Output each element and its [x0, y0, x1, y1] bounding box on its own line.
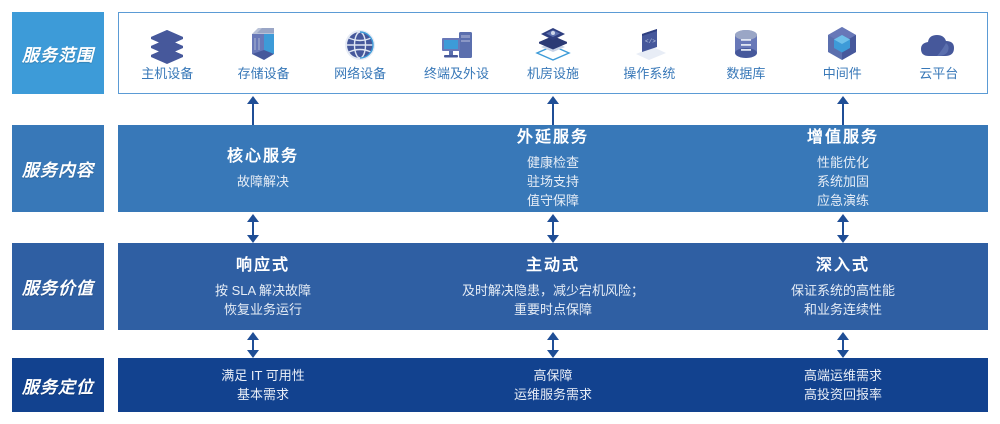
content-column-extended[interactable]: 外延服务 健康检查 驻场支持 值守保障 — [408, 125, 698, 212]
scope-item-label: 中间件 — [823, 66, 862, 82]
positioning-column-assurance[interactable]: 高保障 运维服务需求 — [408, 358, 698, 412]
column-lines: 高保障 运维服务需求 — [514, 366, 592, 404]
content-column-value-added[interactable]: 增值服务 性能优化 系统加固 应急演练 — [698, 125, 988, 212]
connector-arrow-double-4 — [246, 332, 260, 358]
row-label-service-content: 服务内容 — [12, 125, 104, 212]
connector-arrow-double-5 — [546, 332, 560, 358]
column-line: 满足 IT 可用性 — [221, 366, 305, 385]
column-lines: 保证系统的高性能 和业务连续性 — [791, 281, 895, 319]
service-scope-panel: 主机设备 存储设备 — [118, 12, 988, 94]
column-lines: 及时解决隐患，减少宕机风险； 重要时点保障 — [462, 281, 644, 319]
column-lines: 高端运维需求 高投资回报率 — [804, 366, 882, 404]
column-title: 深入式 — [816, 255, 870, 277]
column-line: 健康检查 — [527, 153, 579, 172]
column-line: 运维服务需求 — [514, 385, 592, 404]
column-line: 故障解决 — [237, 172, 289, 191]
column-lines: 健康检查 驻场支持 值守保障 — [527, 153, 579, 210]
column-line: 重要时点保障 — [462, 300, 644, 319]
value-column-proactive[interactable]: 主动式 及时解决隐患，减少宕机风险； 重要时点保障 — [408, 243, 698, 330]
arrow-stem — [842, 221, 844, 236]
column-line: 值守保障 — [527, 191, 579, 210]
column-title: 核心服务 — [227, 146, 299, 168]
scope-item-datacenter-facility[interactable]: 机房设施 — [505, 24, 601, 82]
scope-item-label: 操作系统 — [623, 66, 675, 82]
scope-item-label: 终端及外设 — [424, 66, 489, 82]
column-line: 性能优化 — [817, 153, 869, 172]
row-label-service-value: 服务价值 — [12, 243, 104, 330]
column-title: 外延服务 — [517, 127, 589, 149]
column-line: 基本需求 — [221, 385, 305, 404]
column-line: 保证系统的高性能 — [791, 281, 895, 300]
arrow-head-down — [247, 235, 259, 243]
positioning-column-basic[interactable]: 满足 IT 可用性 基本需求 — [118, 358, 408, 412]
column-line: 驻场支持 — [527, 172, 579, 191]
connector-arrow-double-2 — [546, 214, 560, 243]
column-title: 主动式 — [526, 255, 580, 277]
scope-item-label: 网络设备 — [334, 66, 386, 82]
row-label-text: 服务范围 — [22, 41, 94, 66]
value-column-reactive[interactable]: 响应式 按 SLA 解决故障 恢复业务运行 — [118, 243, 408, 330]
arrow-stem — [552, 221, 554, 236]
column-title: 增值服务 — [807, 127, 879, 149]
column-line: 应急演练 — [817, 191, 869, 210]
row-label-text: 服务价值 — [22, 274, 94, 299]
arrow-head-down — [547, 350, 559, 358]
scope-item-cloud-platform[interactable]: 云平台 — [891, 24, 987, 82]
column-line: 高保障 — [514, 366, 592, 385]
row-label-service-scope: 服务范围 — [12, 12, 104, 94]
scope-item-label: 机房设施 — [527, 66, 579, 82]
arrow-stem — [552, 103, 554, 125]
cube-middleware-icon — [823, 24, 861, 64]
arrow-stem — [252, 103, 254, 125]
connector-arrow-up-2 — [546, 96, 560, 125]
service-positioning-panel: 满足 IT 可用性 基本需求 高保障 运维服务需求 高端运维需求 高投资回报率 — [118, 358, 988, 412]
column-lines: 性能优化 系统加固 应急演练 — [817, 153, 869, 210]
column-line: 按 SLA 解决故障 — [215, 281, 311, 300]
connector-arrow-double-3 — [836, 214, 850, 243]
scope-item-label: 存储设备 — [238, 66, 290, 82]
column-title: 响应式 — [236, 255, 290, 277]
scope-item-middleware[interactable]: 中间件 — [794, 24, 890, 82]
column-line: 及时解决隐患，减少宕机风险； — [462, 281, 644, 300]
arrow-stem — [252, 221, 254, 236]
storage-array-icon — [244, 24, 284, 64]
connector-arrow-double-1 — [246, 214, 260, 243]
column-line: 高投资回报率 — [804, 385, 882, 404]
scope-item-label: 主机设备 — [141, 66, 193, 82]
svg-text:</>: </> — [645, 38, 656, 45]
arrow-head-down — [547, 235, 559, 243]
column-line: 和业务连续性 — [791, 300, 895, 319]
service-value-panel: 响应式 按 SLA 解决故障 恢复业务运行 主动式 及时解决隐患，减少宕机风险；… — [118, 243, 988, 330]
scope-item-operating-system[interactable]: </> 操作系统 — [601, 24, 697, 82]
desktop-pc-icon — [437, 24, 477, 64]
column-line: 系统加固 — [817, 172, 869, 191]
scope-item-network-equipment[interactable]: 网络设备 — [312, 24, 408, 82]
arrow-head-down — [837, 235, 849, 243]
scope-item-host-equipment[interactable]: 主机设备 — [119, 24, 215, 82]
row-label-text: 服务内容 — [22, 156, 94, 181]
arrow-stem — [842, 103, 844, 125]
globe-network-icon — [341, 24, 379, 64]
connector-arrow-up-1 — [246, 96, 260, 125]
arrow-head-down — [837, 350, 849, 358]
column-line: 恢复业务运行 — [215, 300, 311, 319]
scope-item-database[interactable]: 数据库 — [698, 24, 794, 82]
datacenter-icon — [531, 24, 575, 64]
column-lines: 满足 IT 可用性 基本需求 — [221, 366, 305, 404]
content-column-core[interactable]: 核心服务 故障解决 — [118, 125, 408, 212]
column-line: 高端运维需求 — [804, 366, 882, 385]
row-label-service-positioning: 服务定位 — [12, 358, 104, 412]
database-icon — [728, 24, 764, 64]
column-lines: 按 SLA 解决故障 恢复业务运行 — [215, 281, 311, 319]
service-framework-diagram: 服务范围 主机设备 — [0, 0, 1000, 424]
laptop-code-icon: </> — [628, 24, 670, 64]
column-lines: 故障解决 — [237, 172, 289, 191]
server-stack-icon — [147, 24, 187, 64]
scope-item-label: 数据库 — [726, 66, 765, 82]
scope-item-terminal-peripherals[interactable]: 终端及外设 — [408, 24, 504, 82]
positioning-column-premium[interactable]: 高端运维需求 高投资回报率 — [698, 358, 988, 412]
connector-arrow-double-6 — [836, 332, 850, 358]
row-label-text: 服务定位 — [22, 373, 94, 398]
scope-item-storage-equipment[interactable]: 存储设备 — [215, 24, 311, 82]
connector-arrow-up-3 — [836, 96, 850, 125]
service-content-panel: 核心服务 故障解决 外延服务 健康检查 驻场支持 值守保障 增值服务 性能优化 … — [118, 125, 988, 212]
value-column-indepth[interactable]: 深入式 保证系统的高性能 和业务连续性 — [698, 243, 988, 330]
scope-item-label: 云平台 — [919, 66, 958, 82]
arrow-head-down — [247, 350, 259, 358]
cloud-icon — [917, 24, 961, 64]
